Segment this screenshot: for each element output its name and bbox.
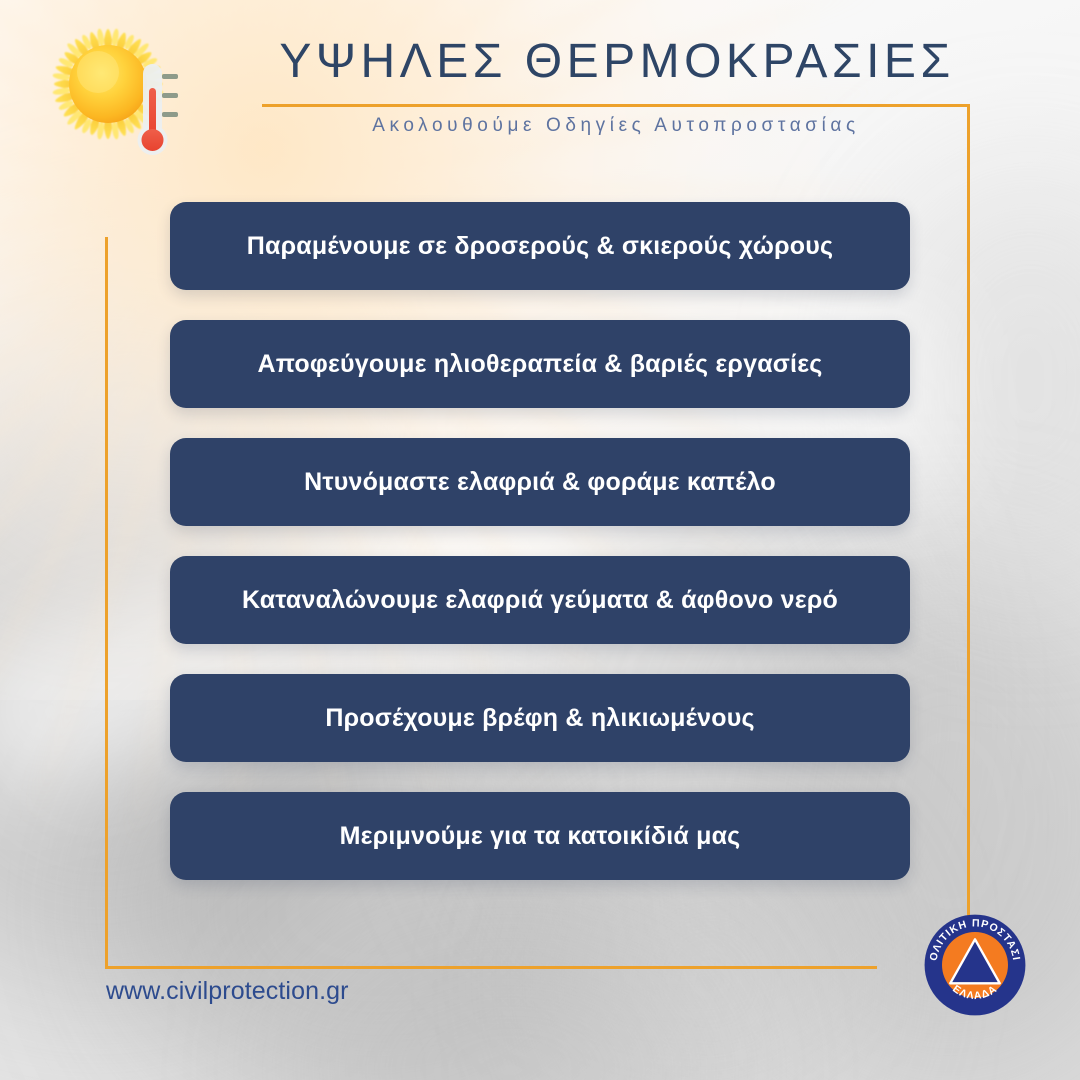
accent-line-left xyxy=(105,237,108,969)
instruction-card: Προσέχουμε βρέφη & ηλικιωμένους xyxy=(170,674,910,762)
instruction-card-label: Παραμένουμε σε δροσερούς & σκιερούς χώρο… xyxy=(247,232,833,261)
instruction-card: Αποφεύγουμε ηλιοθεραπεία & βαριές εργασί… xyxy=(170,320,910,408)
accent-line-top xyxy=(262,104,970,107)
instruction-card-label: Καταναλώνουμε ελαφριά γεύματα & άφθονο ν… xyxy=(242,586,838,615)
instruction-card-label: Προσέχουμε βρέφη & ηλικιωμένους xyxy=(325,704,754,733)
page-title: ΥΨΗΛΕΣ ΘΕΡΜΟΚΡΑΣΙΕΣ xyxy=(262,34,972,91)
instruction-card: Καταναλώνουμε ελαφριά γεύματα & άφθονο ν… xyxy=(170,556,910,644)
header: ΥΨΗΛΕΣ ΘΕΡΜΟΚΡΑΣΙΕΣ xyxy=(262,34,972,91)
civil-protection-greece-logo: ΠΟΛΙΤΙΚΗ ΠΡΟΣΤΑΣΙΑ ΕΛΛΑΔΑ xyxy=(920,910,1030,1020)
sun-with-thermometer-icon xyxy=(30,12,235,192)
instruction-card-label: Αποφεύγουμε ηλιοθεραπεία & βαριές εργασί… xyxy=(258,350,823,379)
thermometer-icon xyxy=(138,64,179,155)
instruction-card-list: Παραμένουμε σε δροσερούς & σκιερούς χώρο… xyxy=(170,202,910,910)
page-subtitle: Ακολουθούμε Οδηγίες Αυτοπροστασίας xyxy=(262,115,970,137)
instruction-card: Ντυνόμαστε ελαφριά & φοράμε καπέλο xyxy=(170,438,910,526)
accent-line-bottom xyxy=(105,966,877,969)
website-url[interactable]: www.civilprotection.gr xyxy=(106,977,349,1006)
instruction-card: Παραμένουμε σε δροσερούς & σκιερούς χώρο… xyxy=(170,202,910,290)
instruction-card: Μεριμνούμε για τα κατοικίδιά μας xyxy=(170,792,910,880)
instruction-card-label: Μεριμνούμε για τα κατοικίδιά μας xyxy=(340,822,741,851)
instruction-card-label: Ντυνόμαστε ελαφριά & φοράμε καπέλο xyxy=(304,468,776,497)
accent-line-right xyxy=(967,104,970,966)
poster-canvas: ΥΨΗΛΕΣ ΘΕΡΜΟΚΡΑΣΙΕΣ Ακολουθούμε Οδηγίες … xyxy=(0,0,1080,1080)
